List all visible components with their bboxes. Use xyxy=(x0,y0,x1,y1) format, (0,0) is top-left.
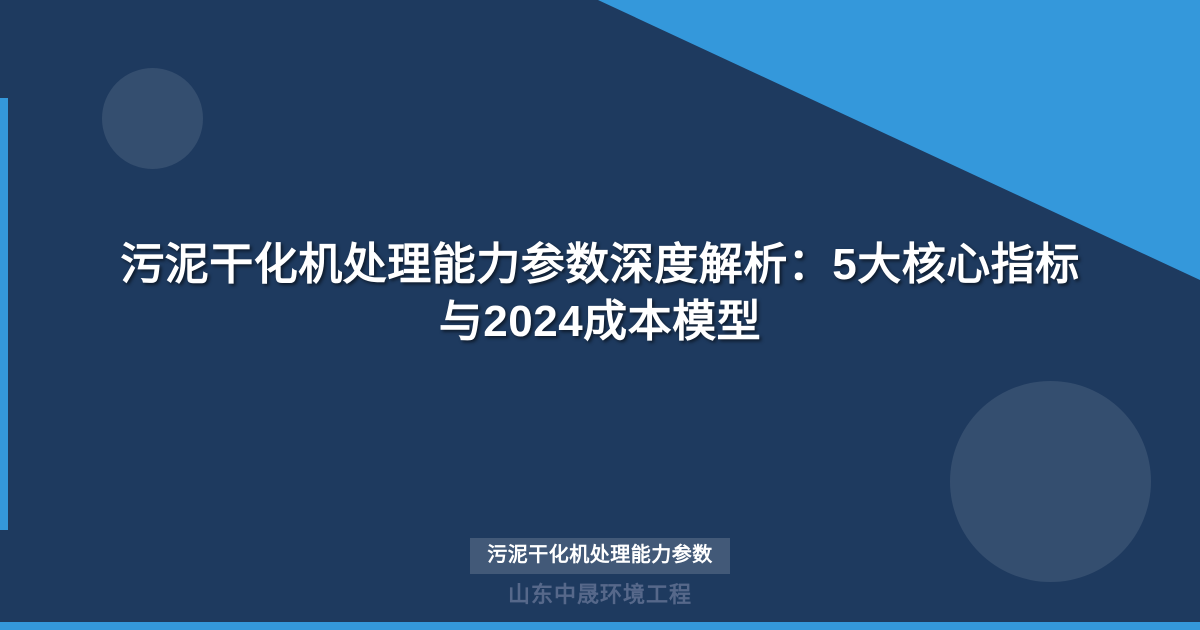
footer-block: 污泥干化机处理能力参数 山东中晟环境工程 xyxy=(0,538,1200,608)
keyword-badge: 污泥干化机处理能力参数 xyxy=(470,538,730,574)
decorative-circle-top-left xyxy=(102,68,203,169)
poster-canvas: 污泥干化机处理能力参数深度解析：5大核心指标 与2024成本模型 污泥干化机处理… xyxy=(0,0,1200,630)
title-block: 污泥干化机处理能力参数深度解析：5大核心指标 与2024成本模型 xyxy=(100,236,1100,350)
brand-watermark: 山东中晟环境工程 xyxy=(0,582,1200,608)
page-title: 污泥干化机处理能力参数深度解析：5大核心指标 与2024成本模型 xyxy=(100,236,1100,350)
accent-bar-left xyxy=(0,98,8,530)
accent-bar-bottom xyxy=(0,622,1200,630)
